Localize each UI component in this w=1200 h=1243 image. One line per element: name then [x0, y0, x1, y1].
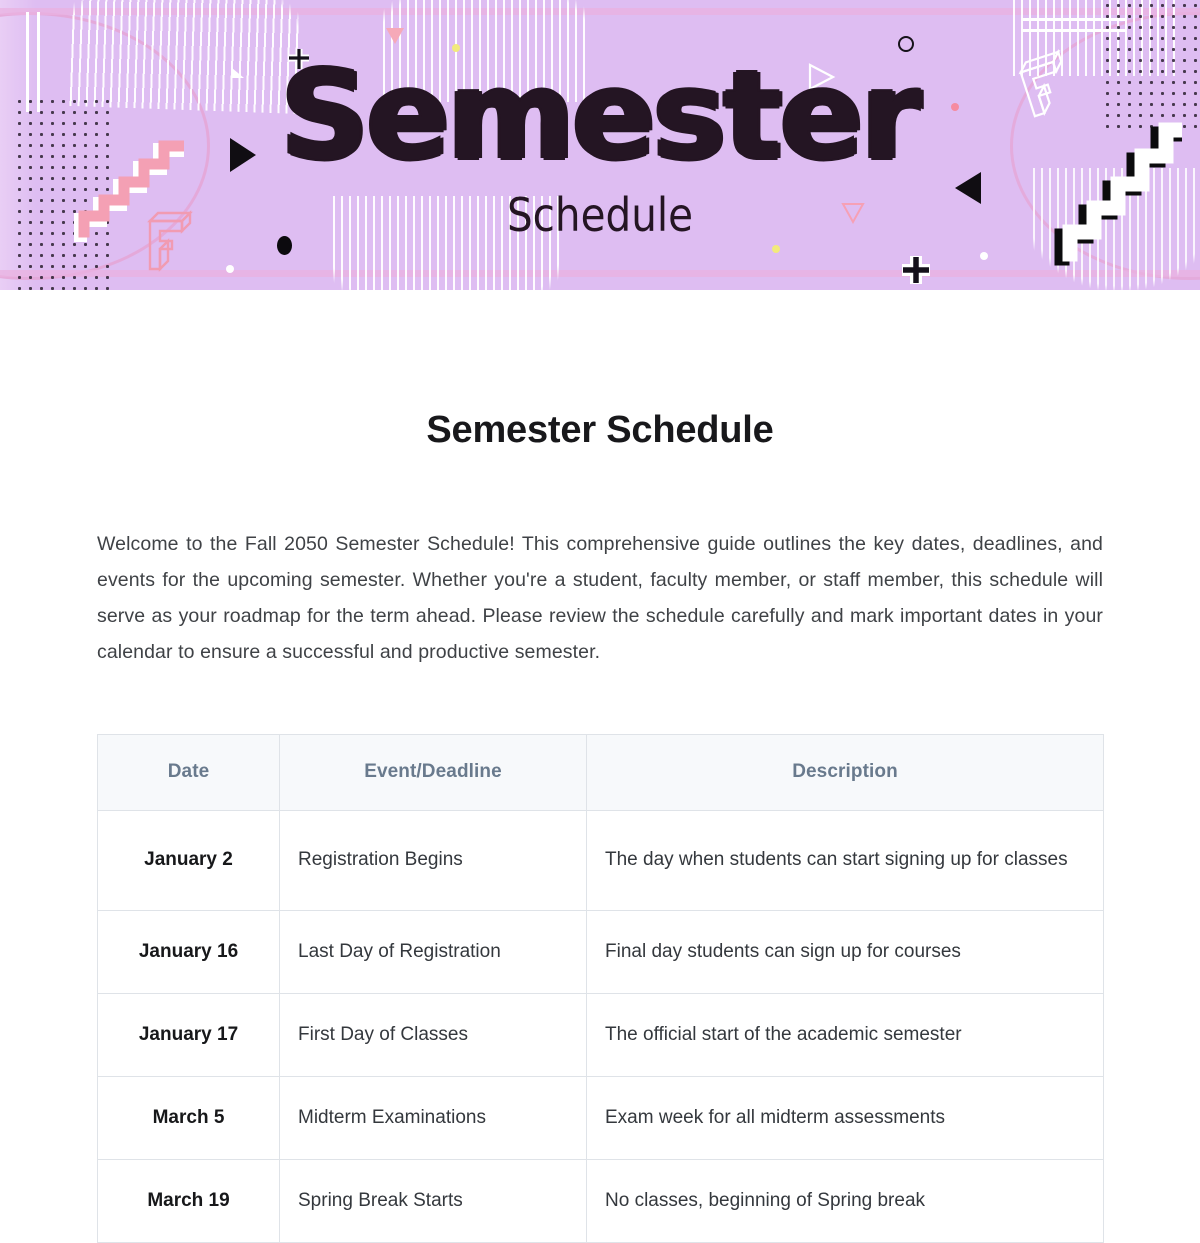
banner-hero: Semester Schedule — [0, 0, 1200, 290]
table-row: January 16 Last Day of Registration Fina… — [98, 910, 1104, 993]
cell-date: January 16 — [98, 910, 280, 993]
plus-mark-right-icon — [898, 252, 934, 290]
cell-description: No classes, beginning of Spring break — [587, 1159, 1104, 1242]
column-header-description: Description — [587, 734, 1104, 810]
cell-event: First Day of Classes — [280, 993, 587, 1076]
table-row: January 17 First Day of Classes The offi… — [98, 993, 1104, 1076]
table-header-row: Date Event/Deadline Description — [98, 734, 1104, 810]
column-header-date: Date — [98, 734, 280, 810]
cell-description: Final day students can sign up for cours… — [587, 910, 1104, 993]
banner-title: Semester — [0, 0, 1200, 166]
column-header-event: Event/Deadline — [280, 734, 587, 810]
cell-date: January 2 — [98, 810, 280, 910]
table-row: March 19 Spring Break Starts No classes,… — [98, 1159, 1104, 1242]
schedule-table-head: Date Event/Deadline Description — [98, 734, 1104, 810]
cell-event: Last Day of Registration — [280, 910, 587, 993]
table-row: January 2 Registration Begins The day wh… — [98, 810, 1104, 910]
yellow-dot-icon — [772, 245, 780, 253]
white-dot-icon — [226, 265, 234, 273]
schedule-table-body: January 2 Registration Begins The day wh… — [98, 810, 1104, 1242]
cell-event: Midterm Examinations — [280, 1076, 587, 1159]
intro-paragraph: Welcome to the Fall 2050 Semester Schedu… — [97, 454, 1103, 670]
cell-description: Exam week for all midterm assessments — [587, 1076, 1104, 1159]
cell-description: The official start of the academic semes… — [587, 993, 1104, 1076]
cell-date: March 5 — [98, 1076, 280, 1159]
banner-title-block: Semester Schedule — [0, 0, 1200, 238]
banner-subtitle: Schedule — [72, 166, 1128, 238]
cell-event: Spring Break Starts — [280, 1159, 587, 1242]
cell-date: January 17 — [98, 993, 280, 1076]
page-title: Semester Schedule — [97, 290, 1103, 454]
white-dot-icon — [980, 252, 988, 260]
table-row: March 5 Midterm Examinations Exam week f… — [98, 1076, 1104, 1159]
document-body: Semester Schedule Welcome to the Fall 20… — [0, 290, 1200, 1243]
cell-description: The day when students can start signing … — [587, 810, 1104, 910]
schedule-table: Date Event/Deadline Description January … — [97, 734, 1104, 1243]
cell-event: Registration Begins — [280, 810, 587, 910]
black-dot-icon — [277, 236, 292, 255]
cell-date: March 19 — [98, 1159, 280, 1242]
